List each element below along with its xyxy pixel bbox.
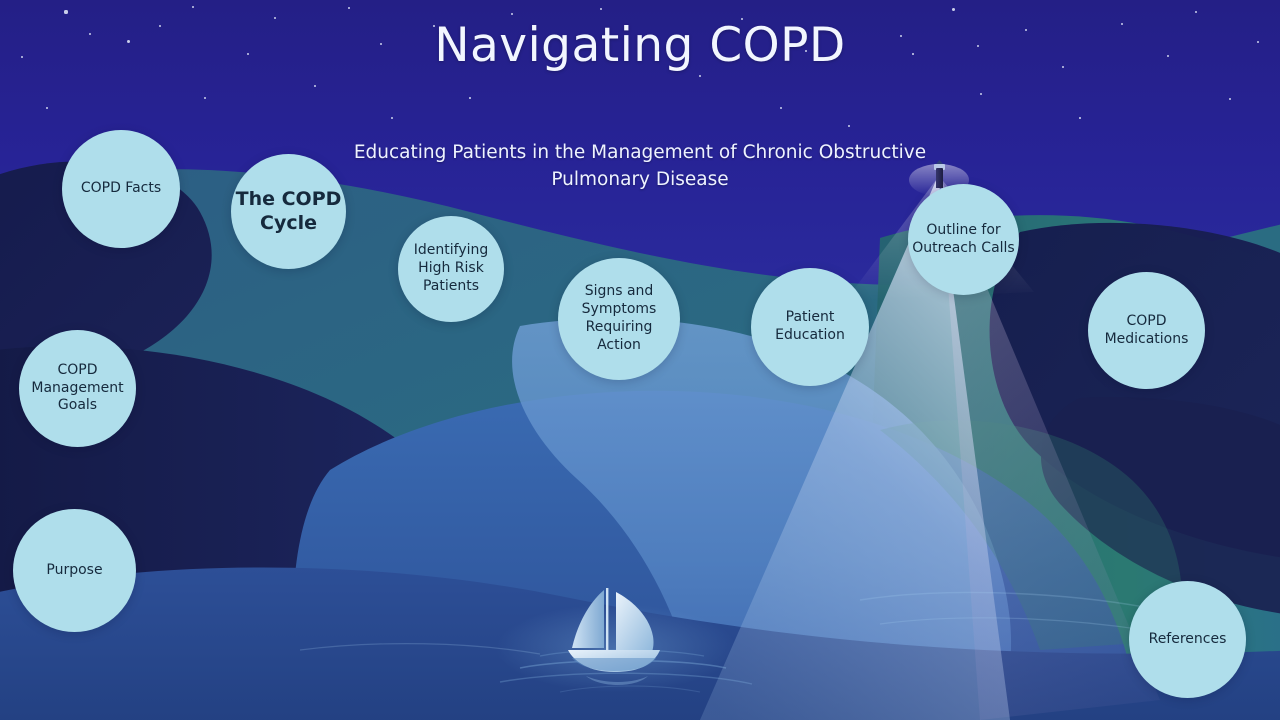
slide-subtitle: Educating Patients in the Management of … bbox=[330, 140, 950, 194]
topic-bubble-label: COPD Facts bbox=[81, 180, 161, 198]
topic-bubble-label: COPD Management Goals bbox=[23, 362, 132, 416]
topic-bubble-label: Signs and Symptoms Requiring Action bbox=[562, 283, 676, 355]
topic-bubble-references[interactable]: References bbox=[1129, 581, 1246, 698]
topic-bubble-label: The COPD Cycle bbox=[235, 188, 342, 234]
topic-bubble-label: Purpose bbox=[46, 562, 102, 580]
topic-bubble-patient-education[interactable]: Patient Education bbox=[751, 268, 869, 386]
topic-bubble-purpose[interactable]: Purpose bbox=[13, 509, 136, 632]
topic-bubble-signs-and-symptoms-requiring-action[interactable]: Signs and Symptoms Requiring Action bbox=[558, 258, 680, 380]
topic-bubble-label: Outline for Outreach Calls bbox=[912, 222, 1015, 258]
topic-bubble-copd-management-goals[interactable]: COPD Management Goals bbox=[19, 330, 136, 447]
topic-bubble-copd-facts[interactable]: COPD Facts bbox=[62, 130, 180, 248]
topic-bubble-outline-for-outreach-calls[interactable]: Outline for Outreach Calls bbox=[908, 184, 1019, 295]
topic-bubble-label: COPD Medications bbox=[1092, 313, 1201, 349]
presentation-slide: Navigating COPD Educating Patients in th… bbox=[0, 0, 1280, 720]
page-title: Navigating COPD bbox=[0, 18, 1280, 73]
topic-bubble-label: Identifying High Risk Patients bbox=[402, 242, 500, 296]
topic-bubble-label: Patient Education bbox=[755, 309, 865, 345]
topic-bubble-identifying-high-risk-patients[interactable]: Identifying High Risk Patients bbox=[398, 216, 504, 322]
topic-bubble-label: References bbox=[1149, 631, 1227, 649]
topic-bubble-the-copd-cycle[interactable]: The COPD Cycle bbox=[231, 154, 346, 269]
topic-bubble-copd-medications[interactable]: COPD Medications bbox=[1088, 272, 1205, 389]
